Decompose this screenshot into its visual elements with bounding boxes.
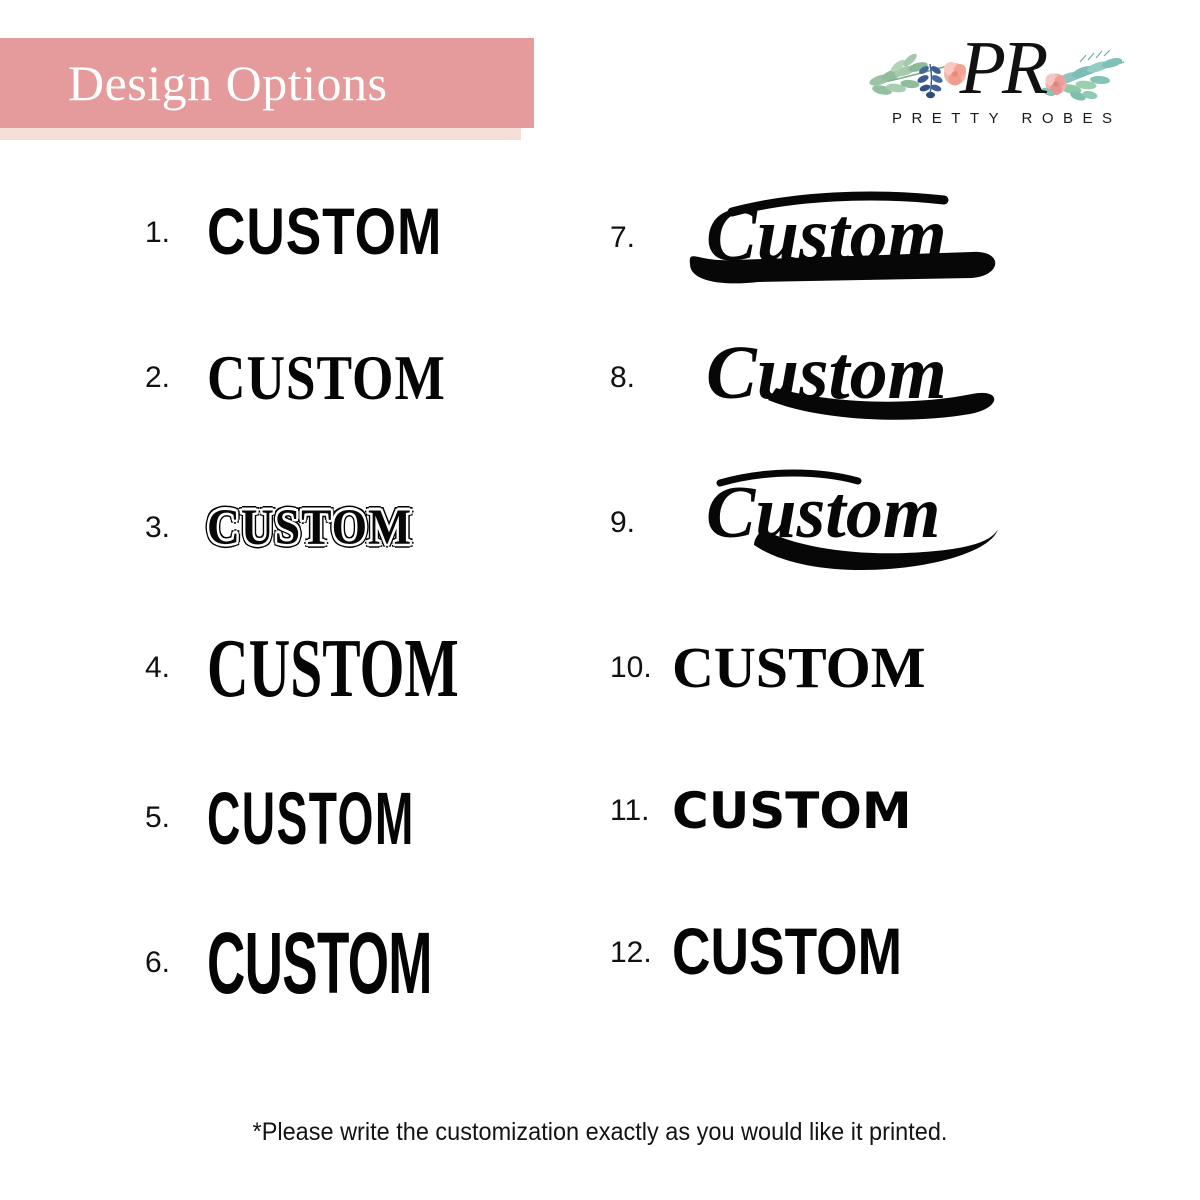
option-sample-6: CUSTOM bbox=[207, 919, 484, 1006]
design-option-11[interactable]: 11. CUSTOM bbox=[610, 766, 1080, 856]
option-sample-4: CUSTOM bbox=[207, 626, 533, 710]
option-sample-2: CUSTOM bbox=[207, 346, 582, 410]
option-sample-5: CUSTOM bbox=[207, 781, 493, 855]
design-option-12[interactable]: 12. CUSTOM bbox=[610, 903, 1080, 1003]
customization-note: *Please write the customization exactly … bbox=[36, 1118, 1164, 1147]
design-option-9[interactable]: 9. Custom bbox=[610, 468, 1080, 578]
option-sample-8-text: Custom bbox=[706, 331, 947, 415]
option-number-8: 8. bbox=[610, 363, 672, 393]
option-number-7: 7. bbox=[610, 223, 672, 253]
design-option-2[interactable]: 2. CUSTOM bbox=[145, 333, 615, 423]
design-option-1[interactable]: 1. CUSTOM bbox=[145, 188, 615, 278]
design-option-5[interactable]: 5. CUSTOM bbox=[145, 768, 615, 868]
design-option-6[interactable]: 6. CUSTOM bbox=[145, 908, 615, 1018]
option-sample-7-text: Custom bbox=[706, 193, 947, 277]
brand-logo: PR PRETTY ROBES bbox=[852, 22, 1152, 142]
option-number-4: 4. bbox=[145, 653, 207, 683]
option-number-12: 12. bbox=[610, 938, 672, 968]
design-option-10[interactable]: 10. CUSTOM bbox=[610, 623, 1080, 713]
option-number-1: 1. bbox=[145, 218, 207, 248]
option-number-5: 5. bbox=[145, 803, 207, 833]
page-title: Design Options bbox=[68, 58, 388, 108]
option-number-10: 10. bbox=[610, 653, 672, 683]
design-option-3[interactable]: 3. CUSTOM bbox=[145, 483, 615, 573]
option-sample-8: Custom bbox=[672, 326, 1080, 430]
option-number-3: 3. bbox=[145, 513, 207, 543]
option-sample-12: CUSTOM bbox=[672, 920, 1023, 986]
blossom-left-icon bbox=[944, 62, 966, 86]
option-sample-10: CUSTOM bbox=[672, 639, 1080, 697]
options-column-right: 7. Custom 8. Custom 9. bbox=[610, 168, 1080, 1048]
option-number-2: 2. bbox=[145, 363, 207, 393]
option-sample-11: CUSTOM bbox=[672, 786, 1080, 836]
option-sample-9: Custom bbox=[672, 467, 1080, 579]
design-option-7[interactable]: 7. Custom bbox=[610, 188, 1080, 288]
design-option-8[interactable]: 8. Custom bbox=[610, 328, 1080, 428]
page-header: Design Options bbox=[0, 0, 1200, 160]
design-options-banner: Design Options bbox=[0, 38, 534, 128]
option-sample-1: CUSTOM bbox=[207, 200, 558, 266]
option-number-9: 9. bbox=[610, 508, 672, 538]
leaf-sprig-right-icon bbox=[1055, 50, 1124, 102]
design-option-4[interactable]: 4. CUSTOM bbox=[145, 618, 615, 718]
rose-right-icon bbox=[1040, 74, 1066, 98]
option-sample-3: CUSTOM bbox=[207, 503, 595, 554]
logo-floral-art bbox=[852, 22, 1152, 114]
design-options-grid: 1. CUSTOM 2. CUSTOM 3. CUSTOM 4. CUSTOM … bbox=[0, 168, 1200, 1048]
option-number-11: 11. bbox=[610, 796, 672, 826]
option-number-6: 6. bbox=[145, 948, 207, 978]
option-sample-7: Custom bbox=[672, 186, 1080, 290]
brand-wordmark: PRETTY ROBES bbox=[852, 110, 1152, 127]
option-sample-9-text: Custom bbox=[706, 472, 940, 554]
options-column-left: 1. CUSTOM 2. CUSTOM 3. CUSTOM 4. CUSTOM … bbox=[145, 168, 615, 1048]
